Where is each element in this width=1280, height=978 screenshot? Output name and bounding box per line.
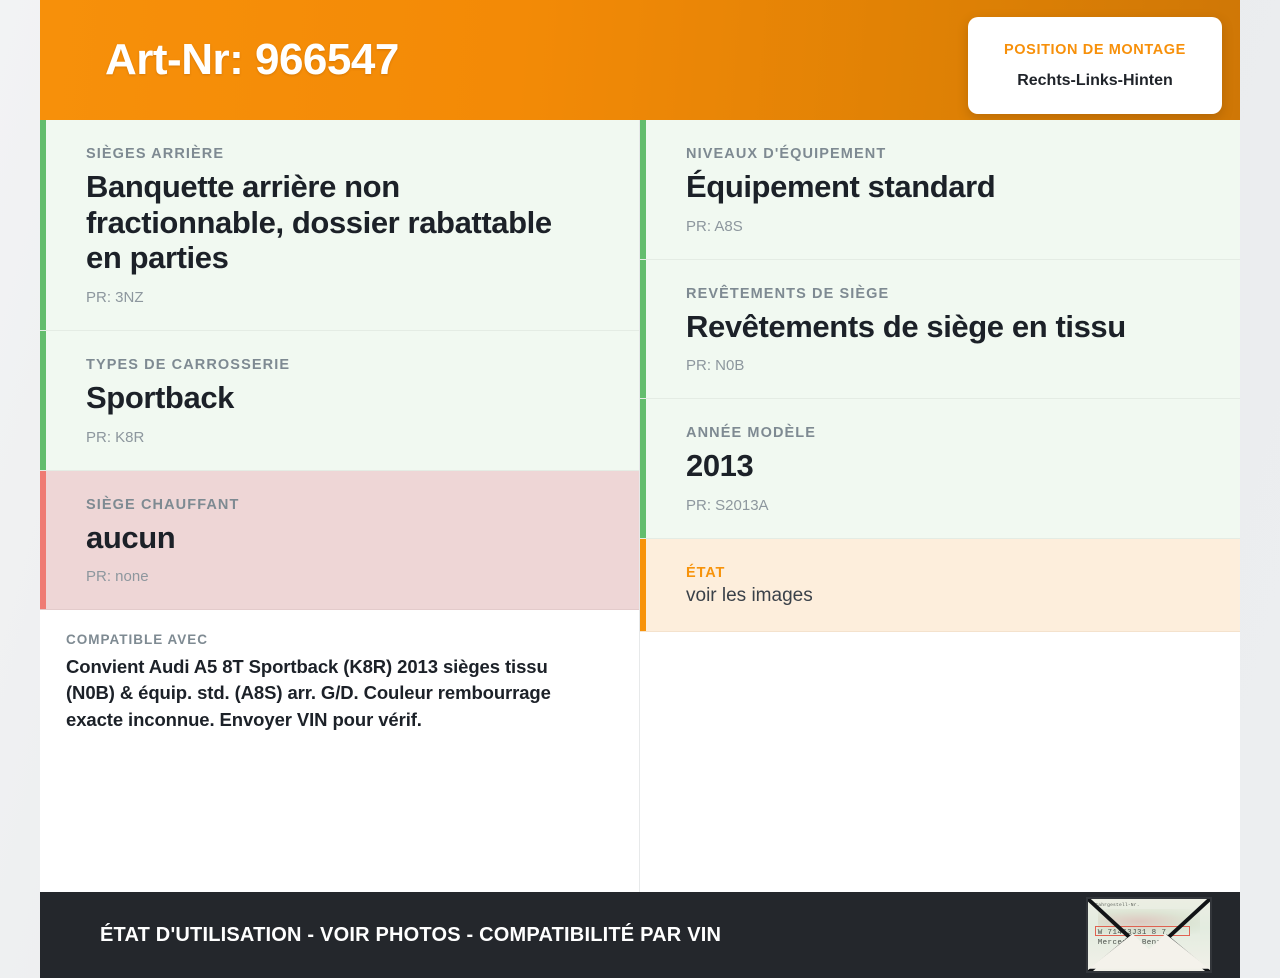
spec-columns: SIÈGES ARRIÈRE Banquette arrière non fra… [40, 120, 1240, 892]
page-title: Art-Nr: 966547 [105, 35, 399, 85]
left-column-filler [40, 753, 639, 892]
spec-value: aucun [86, 520, 594, 556]
spec-value: 2013 [686, 448, 1195, 484]
mounting-position-badge: POSITION DE MONTAGE Rechts-Links-Hinten [968, 17, 1222, 114]
spec-label: REVÊTEMENTS DE SIÈGE [686, 286, 1195, 302]
mounting-position-value: Rechts-Links-Hinten [1017, 72, 1173, 90]
spec-label: SIÈGE CHAUFFANT [86, 497, 594, 513]
spec-label: ÉTAT [686, 565, 1195, 581]
spec-label: NIVEAUX D'ÉQUIPEMENT [686, 146, 1195, 162]
spec-label: SIÈGES ARRIÈRE [86, 146, 594, 162]
fitment-text: Convient Audi A5 8T Sportback (K8R) 2013… [66, 654, 597, 733]
spec-block-model-year: ANNÉE MODÈLE 2013 PR: S2013A [640, 399, 1240, 539]
spec-label: TYPES DE CARROSSERIE [86, 357, 594, 373]
fitment-note: COMPATIBLE AVEC Convient Audi A5 8T Spor… [40, 610, 639, 753]
fitment-label: COMPATIBLE AVEC [66, 632, 597, 647]
spec-pr-code: PR: N0B [686, 357, 1195, 374]
spec-pr-code: PR: A8S [686, 218, 1195, 235]
spec-block-condition: ÉTAT voir les images [640, 539, 1240, 632]
spec-block-seat-covers: REVÊTEMENTS DE SIÈGE Revêtements de sièg… [640, 260, 1240, 400]
left-column: SIÈGES ARRIÈRE Banquette arrière non fra… [40, 120, 640, 892]
mounting-position-label: POSITION DE MONTAGE [1004, 42, 1186, 58]
right-column: NIVEAUX D'ÉQUIPEMENT Équipement standard… [640, 120, 1240, 892]
spec-block-heated-seat: SIÈGE CHAUFFANT aucun PR: none [40, 471, 639, 611]
right-column-filler [640, 632, 1240, 892]
spec-pr-code: PR: K8R [86, 429, 594, 446]
spec-value: Équipement standard [686, 169, 1195, 205]
vin-document-thumbnail[interactable]: Fahrgestell-Nr. W 71463J31 8 7 Mercedes-… [1086, 897, 1212, 973]
spec-pr-code: PR: S2013A [686, 497, 1195, 514]
spec-value: Sportback [86, 380, 594, 416]
listing-card: Art-Nr: 966547 POSITION DE MONTAGE Recht… [40, 0, 1240, 978]
spec-pr-code: PR: none [86, 568, 594, 585]
footer-text: ÉTAT D'UTILISATION - VOIR PHOTOS - COMPA… [100, 924, 721, 947]
spec-label: ANNÉE MODÈLE [686, 425, 1195, 441]
page-footer: ÉTAT D'UTILISATION - VOIR PHOTOS - COMPA… [40, 892, 1240, 978]
spec-pr-code: PR: 3NZ [86, 289, 594, 306]
spec-value: Revêtements de siège en tissu [686, 309, 1195, 345]
page-header: Art-Nr: 966547 POSITION DE MONTAGE Recht… [40, 0, 1240, 120]
spec-block-equipment-level: NIVEAUX D'ÉQUIPEMENT Équipement standard… [640, 120, 1240, 260]
spec-value: voir les images [686, 585, 1195, 607]
envelope-icon [1088, 899, 1210, 973]
spec-block-body-type: TYPES DE CARROSSERIE Sportback PR: K8R [40, 331, 639, 471]
spec-value: Banquette arrière non fractionnable, dos… [86, 169, 594, 276]
spec-block-rear-seats: SIÈGES ARRIÈRE Banquette arrière non fra… [40, 120, 639, 331]
